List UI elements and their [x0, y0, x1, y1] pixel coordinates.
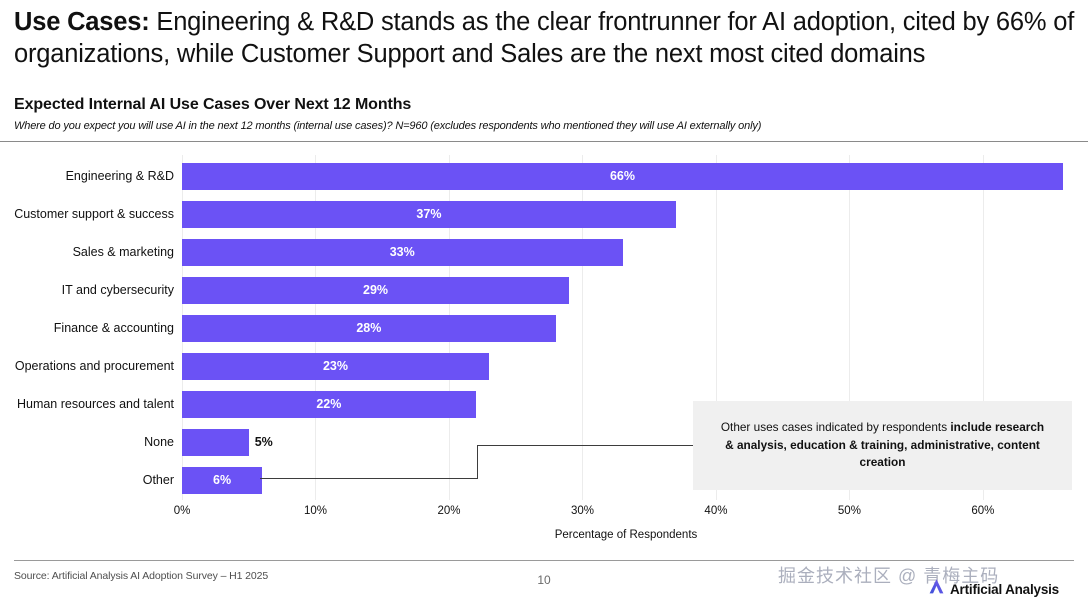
bar-value-label: 66%	[182, 163, 1063, 190]
page-headline: Use Cases: Engineering & R&D stands as t…	[14, 6, 1076, 70]
callout-text: Other uses cases indicated by respondent…	[715, 419, 1050, 472]
headline-lead: Use Cases:	[14, 8, 150, 36]
category-label: Engineering & R&D	[0, 163, 174, 190]
bar-row[interactable]: 37%	[182, 201, 1070, 228]
category-label: Finance & accounting	[0, 315, 174, 342]
bar-value-label: 5%	[255, 429, 273, 456]
header-divider	[0, 141, 1088, 142]
category-label: Other	[0, 467, 174, 494]
x-tick-label: 10%	[304, 505, 327, 517]
category-label: IT and cybersecurity	[0, 277, 174, 304]
callout-connector-segment-1	[260, 478, 478, 479]
callout-connector-segment-2	[477, 445, 478, 479]
bar-value-label: 22%	[182, 391, 476, 418]
x-axis-ticks: 0%10%20%30%40%50%60%	[182, 505, 1070, 525]
bar-value-label: 33%	[182, 239, 623, 266]
x-tick-label: 30%	[571, 505, 594, 517]
bar-value-label: 37%	[182, 201, 676, 228]
x-tick-label: 20%	[437, 505, 460, 517]
brand-logo: Artificial Analysis	[928, 578, 1059, 600]
category-axis-labels: Engineering & R&DCustomer support & succ…	[0, 155, 174, 500]
bar-row[interactable]: 66%	[182, 163, 1070, 190]
bar-row[interactable]: 33%	[182, 239, 1070, 266]
category-label: Customer support & success	[0, 201, 174, 228]
bar-value-label: 6%	[182, 467, 262, 494]
bar-row[interactable]: 29%	[182, 277, 1070, 304]
chart-title: Expected Internal AI Use Cases Over Next…	[14, 96, 411, 114]
x-tick-label: 50%	[838, 505, 861, 517]
bar-row[interactable]: 23%	[182, 353, 1070, 380]
bar-row[interactable]: 28%	[182, 315, 1070, 342]
bar-value-label: 23%	[182, 353, 489, 380]
callout-normal-text: Other uses cases indicated by respondent…	[721, 420, 951, 434]
category-label: Sales & marketing	[0, 239, 174, 266]
category-label: Human resources and talent	[0, 391, 174, 418]
brand-logo-text: Artificial Analysis	[950, 582, 1059, 597]
x-axis-title: Percentage of Respondents	[182, 529, 1070, 541]
category-label: None	[0, 429, 174, 456]
bar[interactable]	[182, 429, 249, 456]
bar-value-label: 29%	[182, 277, 569, 304]
footer-divider	[14, 560, 1074, 561]
category-label: Operations and procurement	[0, 353, 174, 380]
artificial-analysis-logo-icon	[928, 578, 945, 600]
bar-value-label: 28%	[182, 315, 556, 342]
callout-connector-segment-3	[477, 445, 694, 446]
headline-rest: Engineering & R&D stands as the clear fr…	[14, 8, 1074, 68]
x-tick-label: 0%	[174, 505, 191, 517]
x-tick-label: 60%	[971, 505, 994, 517]
callout-box: Other uses cases indicated by respondent…	[693, 401, 1072, 490]
chart-subtitle: Where do you expect you will use AI in t…	[14, 120, 761, 132]
x-tick-label: 40%	[704, 505, 727, 517]
